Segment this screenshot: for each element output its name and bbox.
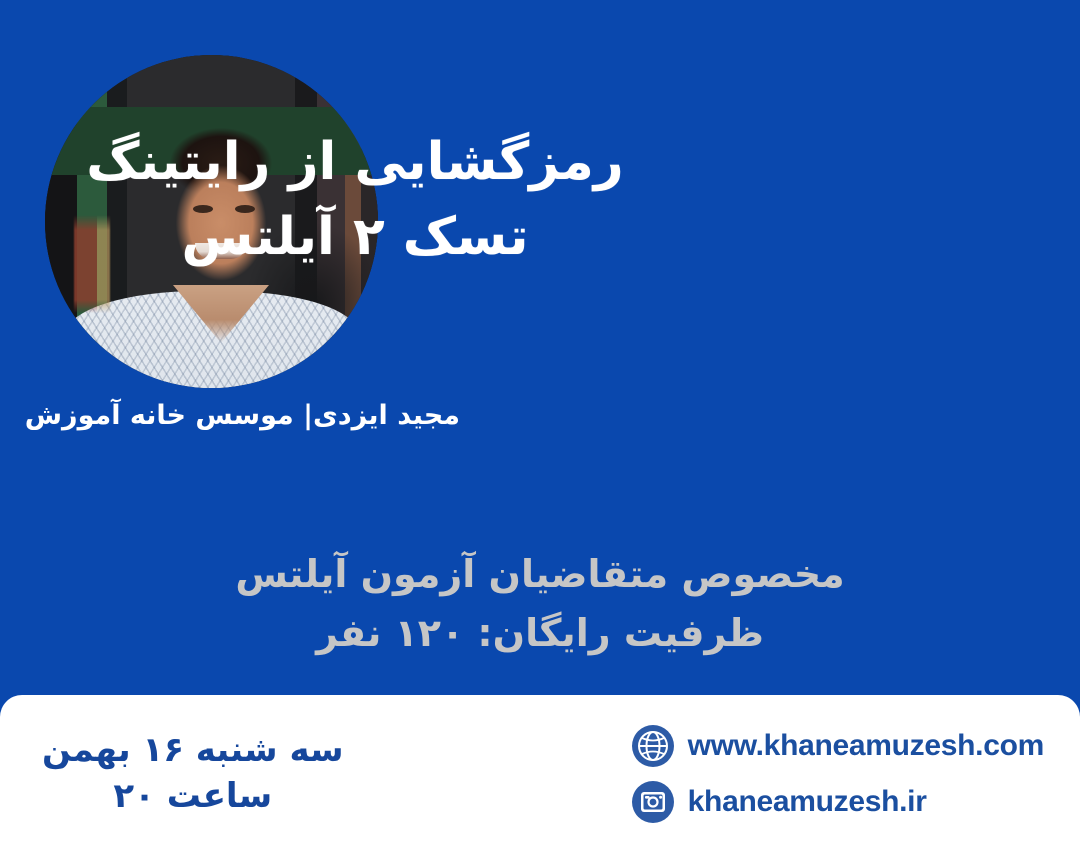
contact-list: www.khaneamuzesh.com khaneamuzesh.ir [632,725,1044,823]
webinar-poster: مجید ایزدی| موسس خانه آموزش رمزگشایی از … [0,0,1080,853]
info-block: مخصوص متقاضیان آزمون آیلتس ظرفیت رایگان:… [120,545,960,663]
photo-shirt-detail [67,291,357,388]
contact-website[interactable]: www.khaneamuzesh.com [632,725,1044,767]
footer-bar: سه شنبه ۱۶ بهمن ساعت ۲۰ www.khaneamuzesh… [0,695,1080,853]
instagram-icon [632,781,674,823]
audience-line: مخصوص متقاضیان آزمون آیلتس [120,545,960,604]
photo-neck-detail [173,285,269,343]
page-title: رمزگشایی از رایتینگ تسک ۲ آیلتس [60,125,650,276]
event-time: ساعت ۲۰ [42,774,344,820]
globe-icon [632,725,674,767]
website-url[interactable]: www.khaneamuzesh.com [688,729,1044,763]
contact-instagram[interactable]: khaneamuzesh.ir [632,781,1044,823]
capacity-line: ظرفیت رایگان: ۱۲۰ نفر [120,604,960,663]
title-line-1: رمزگشایی از رایتینگ [60,125,650,200]
event-date: سه شنبه ۱۶ بهمن [42,728,344,774]
event-datetime: سه شنبه ۱۶ بهمن ساعت ۲۰ [22,728,344,820]
presenter-name: مجید ایزدی| موسس خانه آموزش [30,400,460,431]
instagram-handle[interactable]: khaneamuzesh.ir [688,785,927,819]
title-line-2: تسک ۲ آیلتس [60,200,650,275]
